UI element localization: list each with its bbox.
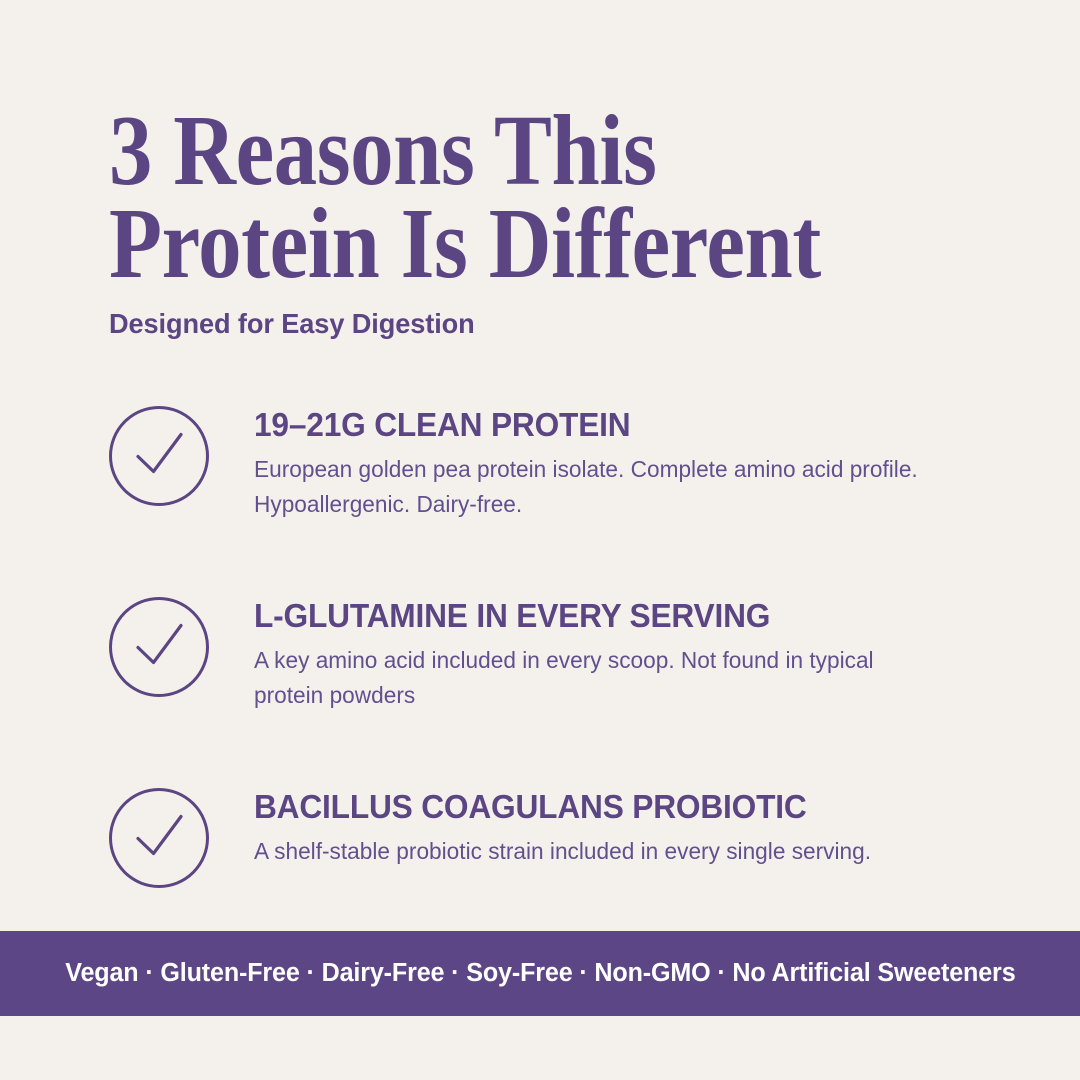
headline-line-1: 3 Reasons This [109, 104, 883, 197]
header-block: 3 Reasons This Protein Is Different Desi… [109, 104, 1009, 340]
page-title: 3 Reasons This Protein Is Different [109, 104, 883, 290]
promo-poster: 3 Reasons This Protein Is Different Desi… [0, 0, 1080, 1080]
list-item: BACILLUS COAGULANS PROBIOTIC A shelf-sta… [109, 788, 1009, 888]
feature-list: 19–21g CLEAN PROTEIN European golden pea… [109, 406, 1009, 888]
feature-description: A shelf-stable probiotic strain included… [254, 823, 944, 869]
feature-description: A key amino acid included in every scoop… [254, 632, 944, 713]
check-circle-icon [109, 406, 209, 506]
headline-line-2: Protein Is Different [109, 197, 883, 290]
feature-title: 19–21g CLEAN PROTEIN [254, 406, 979, 441]
check-circle-icon [109, 788, 209, 888]
list-item: L-GLUTAMINE IN EVERY SERVING A key amino… [109, 597, 1009, 713]
check-circle-icon [109, 597, 209, 697]
feature-title: BACILLUS COAGULANS PROBIOTIC [254, 788, 979, 823]
claims-banner: Vegan · Gluten-Free · Dairy-Free · Soy-F… [0, 931, 1080, 1016]
list-item: 19–21g CLEAN PROTEIN European golden pea… [109, 406, 1009, 522]
claims-banner-text: Vegan · Gluten-Free · Dairy-Free · Soy-F… [65, 959, 1015, 988]
page-subtitle: Designed for Easy Digestion [109, 290, 982, 340]
feature-title: L-GLUTAMINE IN EVERY SERVING [254, 597, 979, 632]
feature-description: European golden pea protein isolate. Com… [254, 441, 944, 522]
